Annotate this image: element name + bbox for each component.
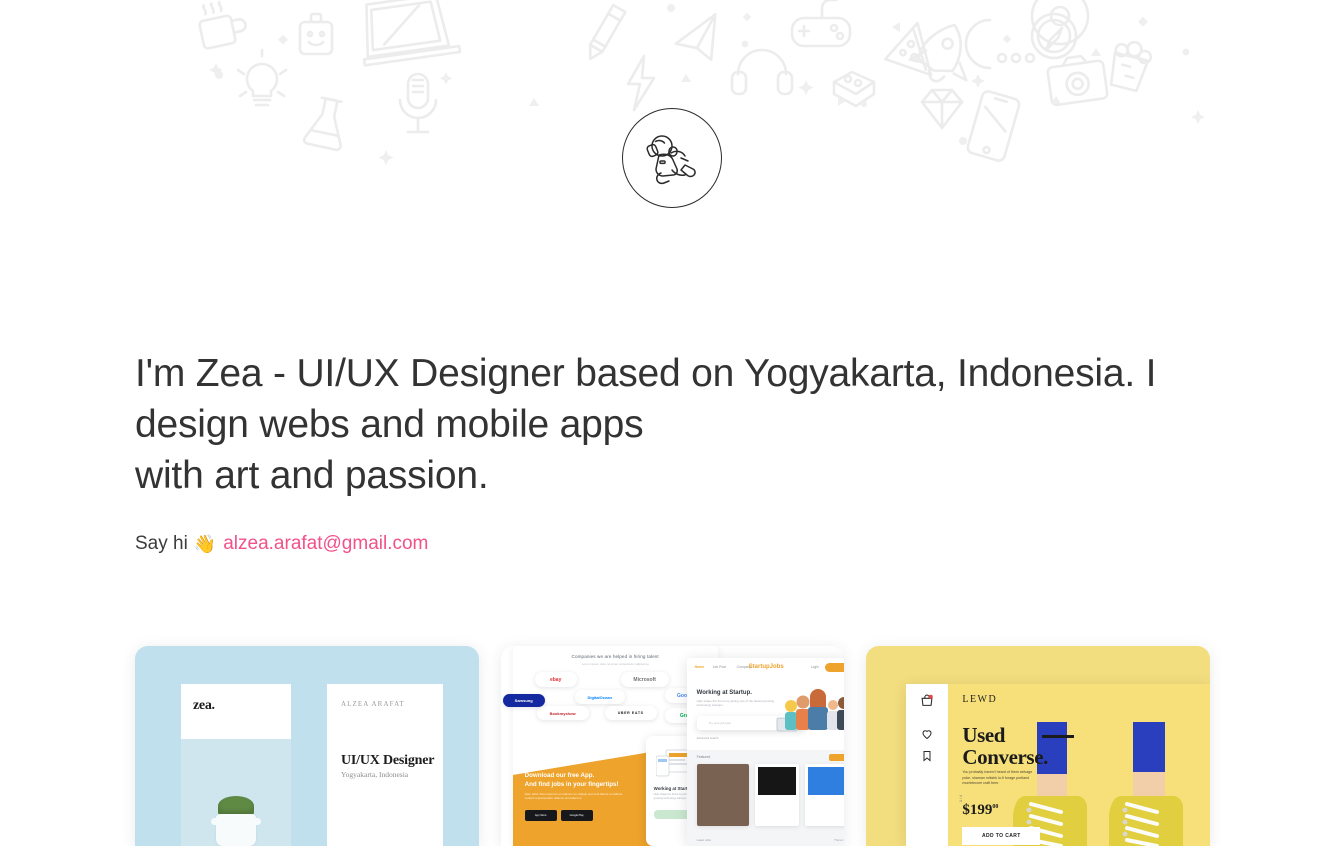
price-value: $199 [962, 802, 992, 818]
flask-icon [303, 96, 349, 151]
app-promo-title-2: And find jobs in your fingertips! [525, 781, 619, 788]
price-cents: 00 [992, 804, 998, 810]
business-card-front: zea. [181, 684, 291, 846]
project-cards-row: zea. ALZEA ARAFAT UI/UX Designer Yogyaka… [135, 646, 1210, 846]
smartphone-icon [966, 90, 1020, 162]
popcorn-icon [1107, 38, 1153, 92]
headphones-icon [732, 50, 792, 94]
advanced-search-link: Advanced search [697, 736, 719, 740]
site-page-mock: Home Job Post Company StartupJobs Login … [687, 658, 845, 846]
page-title: I'm Zea - UI/UX Designer based on Yogyak… [135, 348, 1215, 501]
app-promo-section: Download our free App. And find jobs in … [513, 750, 663, 846]
google-play-badge: Google Play [561, 810, 593, 821]
featured-see-more-button [829, 754, 845, 761]
search-placeholder: Try your job type [709, 721, 731, 725]
product-title-line2: Converse. [962, 745, 1048, 769]
app-promo-title-1: Download our free App. [525, 772, 595, 779]
pager-indicator: 1 / 4 [959, 795, 963, 802]
side-rail: 1 / 4 [906, 684, 948, 846]
featured-tile [805, 764, 845, 826]
company-chip: DigitalOcean [575, 690, 625, 704]
product-page-mock [906, 684, 1210, 846]
card-location: Yogyakarta, Indonesia [341, 770, 408, 779]
plant-photo [207, 794, 265, 846]
company-chip: Samsung [503, 694, 545, 707]
brand-mark: zea. [193, 698, 215, 714]
company-chip: ebay [535, 672, 577, 687]
app-promo-body: Nam dolor duis nostrud non ullamco sit. … [525, 792, 625, 801]
pizza-slice-icon [884, 18, 941, 75]
pencil-icon [584, 5, 625, 62]
lego-brick-icon [834, 72, 874, 106]
add-to-cart-button[interactable]: ADD TO CART [962, 827, 1040, 845]
diamond-icon [922, 90, 962, 128]
coffee-mug-icon [196, 0, 249, 49]
lego-head-icon [300, 14, 332, 54]
bag-icon[interactable] [921, 694, 934, 707]
contact-line: Say hi 👋 alzea.arafat@gmail.com [135, 531, 1215, 557]
square-icon [278, 13, 1148, 45]
nav-item-jobpost: Job Post [713, 665, 726, 669]
triangle-icon [529, 22, 1101, 106]
card-name: ALZEA ARAFAT [341, 700, 405, 708]
company-chip: UBER EATS [605, 706, 657, 720]
nav-login: Login [811, 665, 819, 669]
lightbulb-icon [238, 50, 286, 105]
paper-plane-icon [672, 14, 723, 65]
product-title-line1: Used [962, 723, 1005, 747]
product-title: Used Converse. [962, 724, 1048, 768]
gamepad-icon [792, 0, 850, 46]
camera-icon [1046, 53, 1108, 105]
nav-signup-button [825, 663, 845, 672]
hero-content: I'm Zea - UI/UX Designer based on Yogyak… [135, 348, 1215, 557]
team-illustration [775, 688, 845, 736]
laptop-icon [357, 0, 460, 65]
pacman-icon [966, 20, 1034, 68]
rocket-icon [906, 15, 983, 91]
project-card-startupjobs[interactable]: Companies we are helped in hiring talent… [501, 646, 845, 846]
product-price: $19900 [962, 802, 998, 819]
site-hero-body: Help shape the future by joining one of … [697, 699, 775, 707]
company-chip: Microsoft [621, 672, 669, 687]
site-hero-title: Working at Startup. [697, 690, 752, 696]
card-role: UI/UX Designer [341, 753, 434, 769]
app-store-badge: App Store [525, 810, 557, 821]
title-dash [1042, 735, 1074, 738]
waving-hand-icon: 👋 [194, 531, 216, 557]
bookmark-icon[interactable] [921, 750, 933, 762]
nav-item-home: Home [695, 665, 704, 669]
say-hi-label: Say hi [135, 531, 188, 557]
featured-tile [697, 764, 749, 826]
project-card-branding[interactable]: zea. ALZEA ARAFAT UI/UX Designer Yogyaka… [135, 646, 479, 846]
product-description: You probably haven't heard of them selva… [962, 770, 1040, 787]
project-card-converse[interactable]: 1 / 4 LEWD Used Converse. You probably h… [866, 646, 1210, 846]
featured-tile [755, 764, 799, 826]
email-link[interactable]: alzea.arafat@gmail.com [223, 531, 428, 557]
footer-latest-jobs: Latest Jobs [697, 838, 711, 842]
featured-label: Featured [697, 755, 711, 759]
footer-theres-job: There's Job [834, 838, 844, 842]
heart-icon[interactable] [921, 728, 933, 740]
microphone-icon [400, 74, 436, 132]
astronaut-logo [622, 108, 722, 208]
product-brand: LEWD [962, 694, 997, 705]
business-card-back: ALZEA ARAFAT UI/UX Designer Yogyakarta, … [327, 684, 443, 846]
site-logo: StartupJobs [749, 664, 784, 670]
lightning-bolt-icon [628, 56, 654, 110]
cd-disc-icon [1032, 0, 1088, 44]
compass-icon [1032, 14, 1076, 58]
company-chip: Bookmyshow [537, 706, 589, 720]
